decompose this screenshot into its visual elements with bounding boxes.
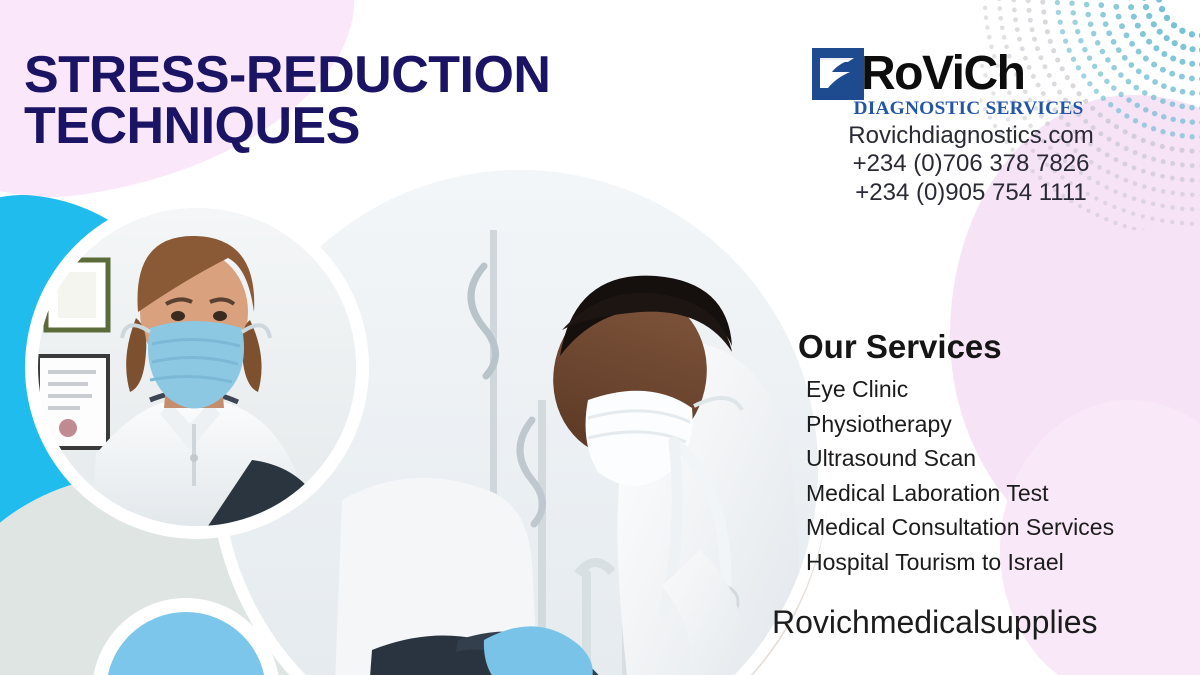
footer-brand-name: Rovichmedicalsupplies [772,604,1097,641]
logo-wordmark: RoViCh [861,50,1024,98]
contact-phone-1[interactable]: +234 (0)706 378 7826 [806,150,1136,178]
light-blue-circle-bottom-left [106,612,266,675]
service-item: Medical Consultation Services [806,510,1114,545]
service-item: Physiotherapy [806,407,1114,442]
service-item: Eye Clinic [806,372,1114,407]
page-title: STRESS-REDUCTION TECHNIQUES [24,50,684,152]
service-item: Hospital Tourism to Israel [806,545,1114,580]
contact-block: Rovichdiagnostics.com +234 (0)706 378 78… [806,122,1136,207]
rovich-r-mark-icon [812,48,864,100]
contact-website[interactable]: Rovichdiagnostics.com [806,122,1136,150]
brand-logo[interactable]: RoViCh DIAGNOSTIC SERVICES [812,48,1102,120]
contact-phone-2[interactable]: +234 (0)905 754 1111 [806,179,1136,207]
service-item: Medical Laboration Test [806,476,1114,511]
services-list: Eye Clinic Physiotherapy Ultrasound Scan… [806,372,1114,579]
services-heading: Our Services [798,328,1002,366]
service-item: Ultrasound Scan [806,441,1114,476]
poster-canvas: STRESS-REDUCTION TECHNIQUES RoViCh DIAGN… [0,0,1200,675]
logo-tagline: DIAGNOSTIC SERVICES [854,98,1105,120]
photo-masked-patient [38,208,356,526]
